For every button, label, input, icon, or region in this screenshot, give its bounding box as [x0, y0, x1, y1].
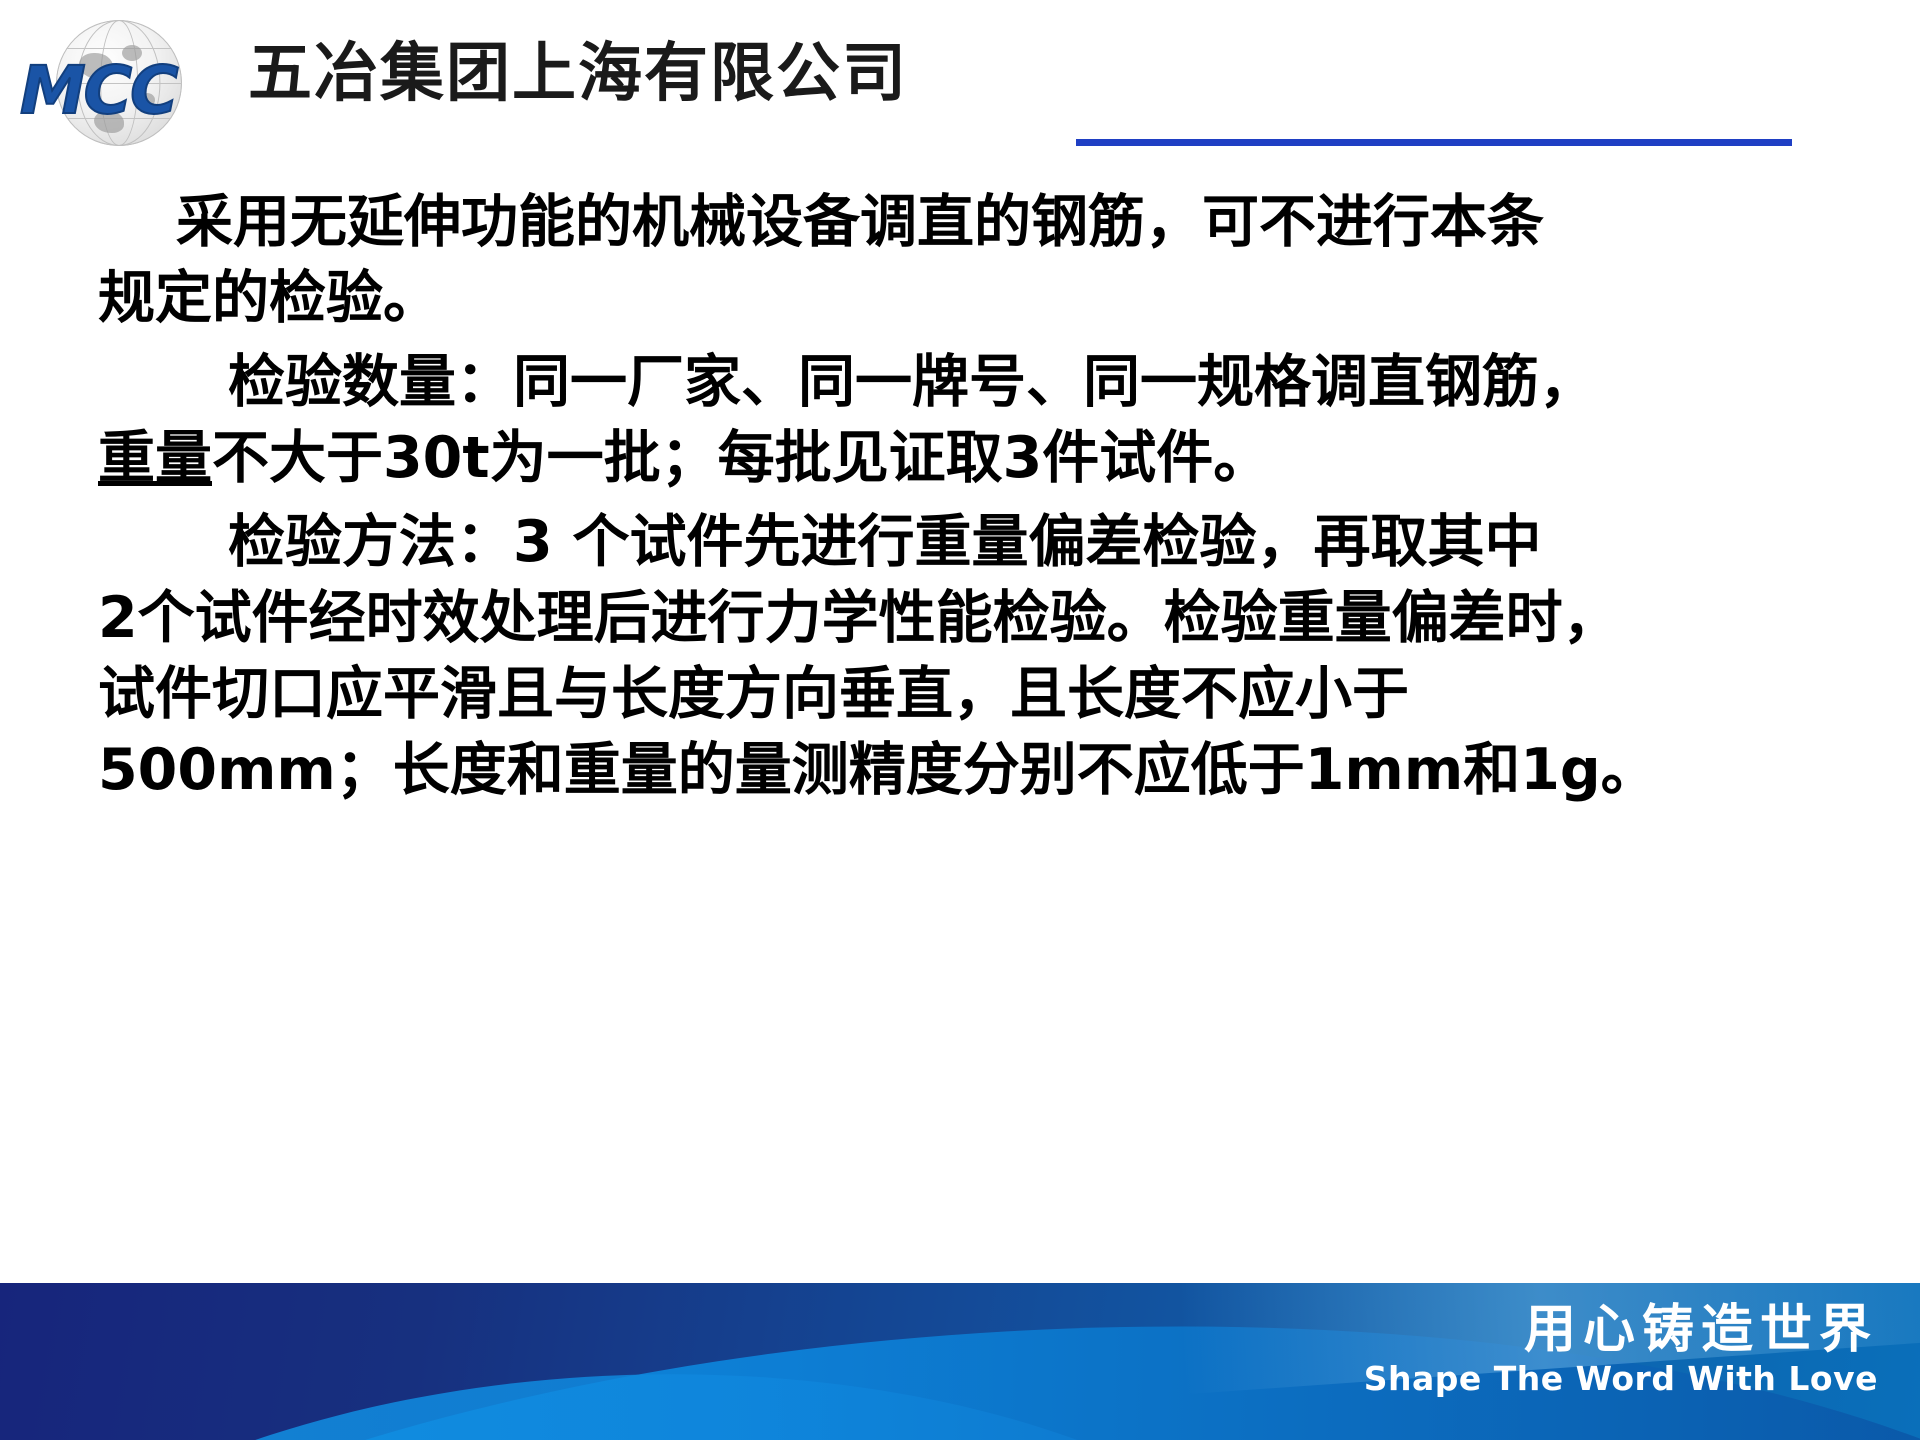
mcc-logo: MCC	[14, 18, 224, 148]
header-divider	[1076, 139, 1792, 146]
slide-body: 采用无延伸功能的机械设备调直的钢筋，可不进行本条 规定的检验。 检验数量：同一厂…	[98, 172, 1888, 808]
paragraph-3-line-4: 500mm；长度和重量的量测精度分别不应低于1mm和1g。	[98, 737, 1658, 803]
slogan-english: Shape The Word With Love	[1364, 1361, 1878, 1397]
paragraph-2: 检验数量：同一厂家、同一牌号、同一规格调直钢筋， 重量不大于30t为一批；每批见…	[98, 344, 1888, 496]
paragraph-1-line-2: 规定的检验。	[98, 265, 440, 331]
paragraph-3-line-2: 2个试件经时效处理后进行力学性能检验。检验重量偏差时，	[98, 585, 1620, 651]
paragraph-2-underlined-fragment: 重量	[98, 425, 212, 491]
mcc-wordmark: MCC	[20, 58, 177, 124]
paragraph-3: 检验方法：3 个试件先进行重量偏差检验，再取其中 2个试件经时效处理后进行力学性…	[98, 504, 1888, 808]
paragraph-1: 采用无延伸功能的机械设备调直的钢筋，可不进行本条 规定的检验。	[98, 184, 1888, 336]
paragraph-3-line-1: 检验方法：3 个试件先进行重量偏差检验，再取其中	[228, 509, 1542, 575]
paragraph-1-line-1: 采用无延伸功能的机械设备调直的钢筋，可不进行本条	[176, 189, 1544, 255]
company-name: 五冶集团上海有限公司	[248, 42, 908, 106]
slogan-chinese: 用心铸造世界	[1364, 1301, 1878, 1359]
slide-footer: 用心铸造世界 Shape The Word With Love	[0, 1283, 1920, 1440]
footer-slogan: 用心铸造世界 Shape The Word With Love	[1364, 1301, 1878, 1398]
paragraph-2-line-2: 不大于30t为一批；每批见证取3件试件。	[212, 425, 1270, 491]
paragraph-3-line-3: 试件切口应平滑且与长度方向垂直，且长度不应小于	[98, 661, 1409, 727]
paragraph-2-line-1: 检验数量：同一厂家、同一牌号、同一规格调直钢筋，	[228, 349, 1596, 415]
slide-header: MCC 五冶集团上海有限公司	[0, 0, 1920, 170]
